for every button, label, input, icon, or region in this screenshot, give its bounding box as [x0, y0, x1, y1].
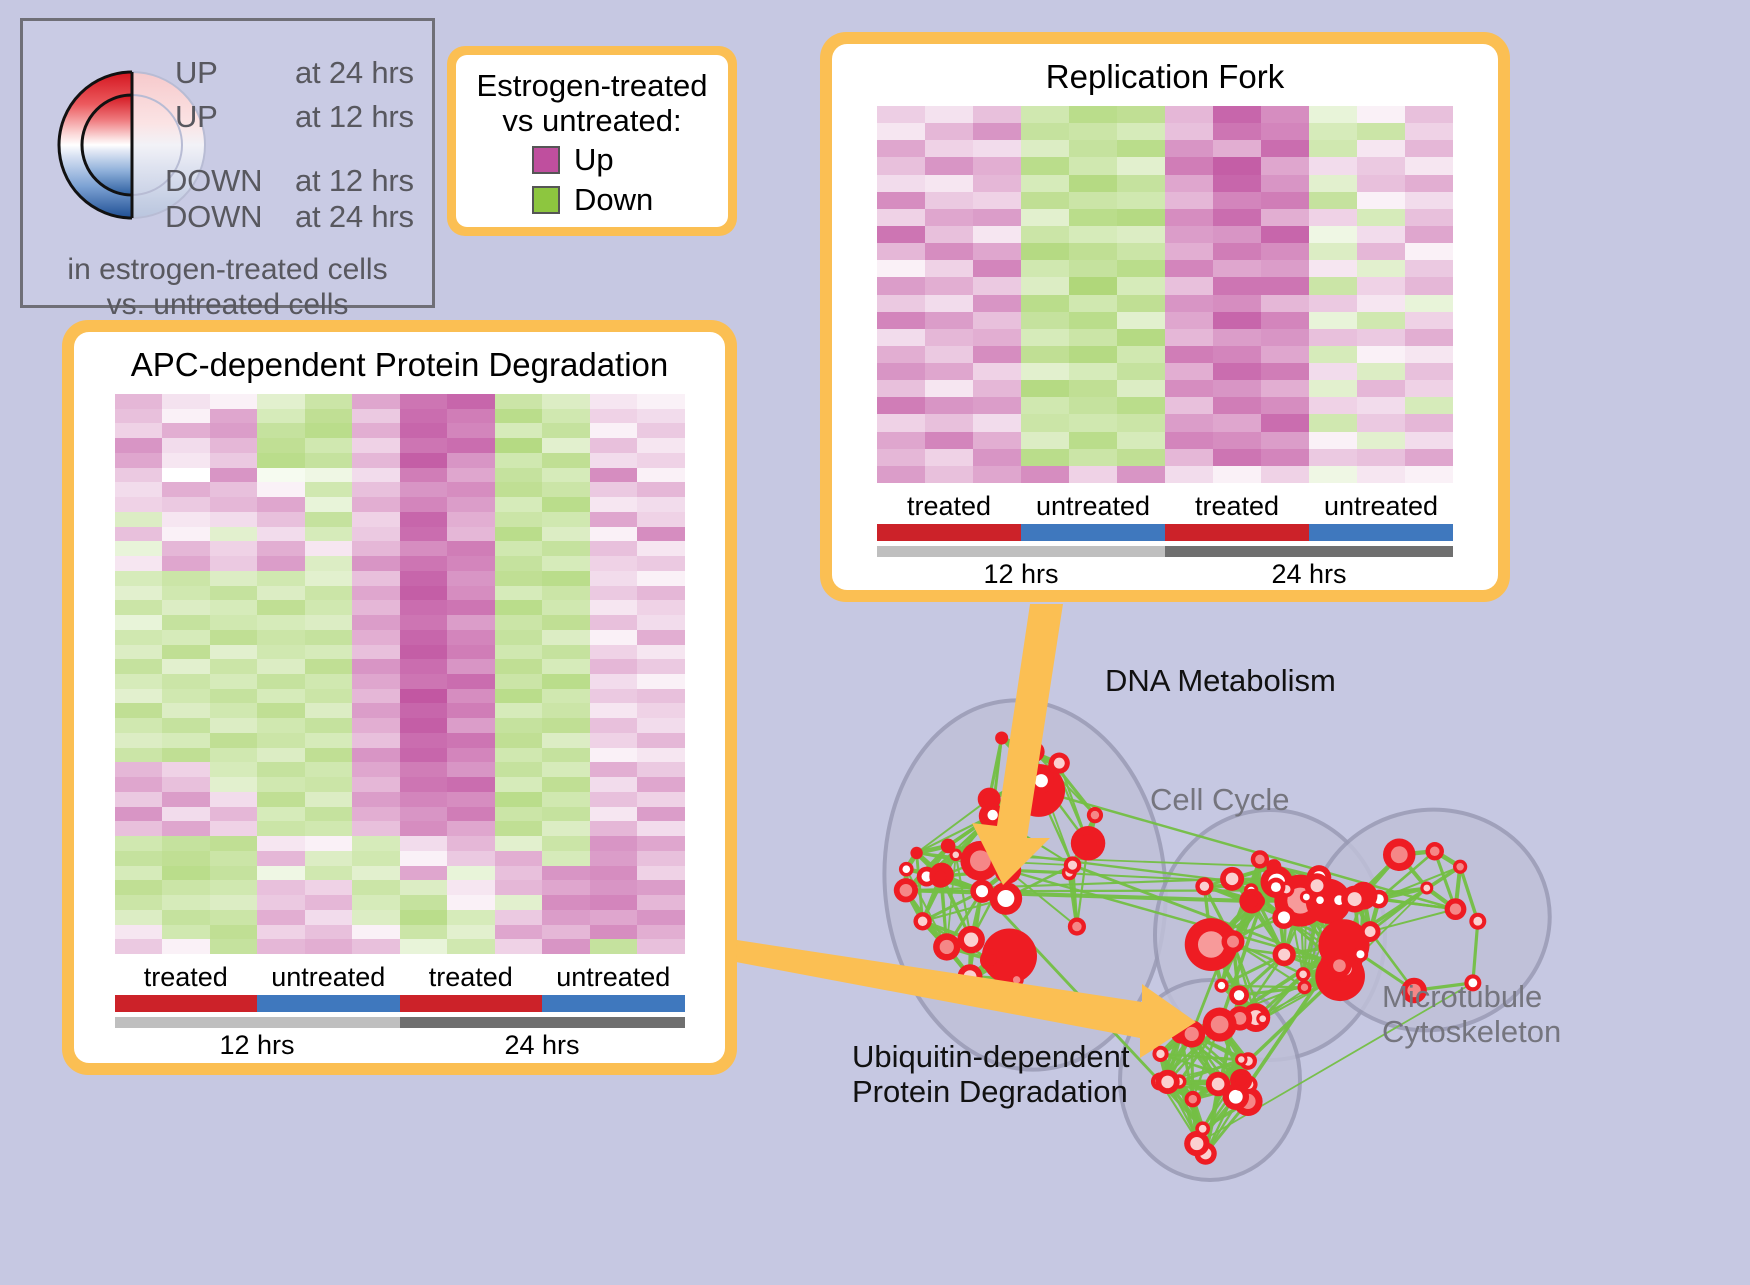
network-node-core [935, 871, 947, 883]
group-label-treated-2: treated [400, 962, 543, 993]
colorwheel-footer: in estrogen-treated cells vs. untreated … [23, 253, 432, 323]
group-bar-treated-2 [400, 995, 543, 1012]
time-bars-replication [877, 546, 1453, 557]
group-bar-treated-0 [877, 524, 1021, 541]
network-node-core [1001, 863, 1015, 877]
group-bars-replication [877, 524, 1453, 541]
network-node-core [1029, 746, 1040, 757]
network-node-core [1200, 882, 1209, 891]
time-label-12-hrs: 12 hrs [877, 559, 1165, 590]
network-node-core [1430, 846, 1440, 856]
colorwheel-footer-line1: in estrogen-treated cells [23, 253, 432, 288]
network-node-core [1226, 873, 1238, 885]
updown-legend-title: Estrogen-treated vs untreated: [466, 69, 718, 138]
down-color-swatch [532, 186, 560, 214]
network-node-core [1068, 861, 1077, 870]
group-label-untreated-3: untreated [542, 962, 685, 993]
group-label-untreated-1: untreated [257, 962, 400, 993]
network-node-core [900, 884, 913, 897]
network-node-core [1316, 896, 1324, 904]
group-label-treated-2: treated [1165, 491, 1309, 522]
network-node-core [918, 917, 928, 927]
time-label-24-hrs: 24 hrs [400, 1030, 685, 1061]
updown-title-line2: vs untreated: [466, 104, 718, 139]
network-node-core [970, 850, 991, 871]
panel-title-apc: APC-dependent Protein Degradation [131, 346, 669, 384]
network-node-core [1188, 1095, 1197, 1104]
network-node-core [953, 852, 960, 859]
network-node-core [1365, 926, 1376, 937]
network-node-core [1356, 950, 1364, 958]
time-labels-replication: 12 hrs24 hrs [877, 559, 1453, 590]
network-node-core [1423, 885, 1430, 892]
network-node-core [1054, 758, 1065, 769]
group-bar-untreated-1 [257, 995, 400, 1012]
network-node-core [944, 842, 952, 850]
network-node-core [1211, 1016, 1229, 1034]
network-node-core [1199, 1125, 1207, 1133]
network-node-core [1271, 882, 1281, 892]
legend-item-down: Down [532, 182, 718, 218]
network-node-core [1456, 863, 1463, 870]
network-node-core [1270, 863, 1278, 871]
network-node-core [963, 970, 976, 983]
colorwheel-footer-line2: vs. untreated cells [23, 288, 432, 323]
group-bars-apc [115, 995, 685, 1012]
group-bar-treated-0 [115, 995, 258, 1012]
time-bar-12-hrs [115, 1017, 400, 1028]
network-node-core [1391, 846, 1408, 863]
network-node-core [1161, 1076, 1174, 1089]
wheel-label-down-12: DOWN [165, 163, 262, 199]
network-node-core [1299, 971, 1307, 979]
network-node-core [1185, 1027, 1199, 1041]
group-label-treated-0: treated [115, 962, 258, 993]
ubiquitin-line1: Ubiquitin-dependent [852, 1040, 1130, 1075]
wheel-label-up-12: UP [175, 99, 218, 135]
network-node-core [1212, 1078, 1225, 1091]
network-node-core [1227, 936, 1239, 948]
network-node-core [1245, 895, 1258, 908]
panel-apc-degradation: APC-dependent Protein Degradation treate… [62, 320, 737, 1075]
network-node-core [1255, 855, 1265, 865]
panel-title-replication-fork: Replication Fork [1046, 58, 1284, 96]
cluster-label-cell-cycle: Cell Cycle [1150, 782, 1290, 818]
time-bar-12-hrs [877, 546, 1165, 557]
network-node-core [1348, 892, 1362, 906]
network-node-core [1013, 976, 1020, 983]
pathway-network-graph [790, 620, 1750, 1280]
network-node-core [1311, 879, 1324, 892]
group-bar-untreated-3 [542, 995, 685, 1012]
time-label-24-hrs: 24 hrs [1165, 559, 1453, 590]
heatmap-apc-degradation [115, 394, 685, 954]
network-node-core [1238, 1056, 1244, 1062]
group-bar-treated-2 [1165, 524, 1309, 541]
network-node-core [1259, 1015, 1266, 1022]
cluster-label-ubiquitin-degradation: Ubiquitin-dependent Protein Degradation [852, 1040, 1130, 1109]
updown-legend-card: Estrogen-treated vs untreated: Up Down [447, 46, 737, 236]
wheel-label-time-24-down: at 24 hrs [295, 199, 414, 235]
network-node-core [1198, 931, 1224, 957]
figure-canvas: UP at 24 hrs UP at 12 hrs DOWN at 12 hrs… [0, 0, 1750, 1279]
up-color-swatch [532, 146, 560, 174]
network-node-core [1303, 894, 1310, 901]
legend-label-up: Up [574, 142, 614, 178]
time-bars-apc [115, 1017, 685, 1028]
legend-label-down: Down [574, 182, 653, 218]
network-node-core [976, 885, 988, 897]
cluster-label-microtubule-cytoskeleton: Microtubule Cytoskeleton [1382, 980, 1561, 1049]
wheel-label-up-24: UP [175, 55, 218, 91]
time-bar-24-hrs [400, 1017, 685, 1028]
heatmap-replication-fork [877, 106, 1453, 483]
network-node-core [1091, 811, 1099, 819]
updown-title-line1: Estrogen-treated [466, 69, 718, 104]
network-node-core [1278, 949, 1290, 961]
network-node-core [902, 865, 910, 873]
network-node-core [997, 890, 1014, 907]
network-node-core [1218, 982, 1225, 989]
network-node-core [1035, 774, 1048, 787]
ubiquitin-line2: Protein Degradation [852, 1075, 1130, 1110]
group-labels-replication: treateduntreatedtreateduntreated [877, 491, 1453, 522]
panel-replication-fork: Replication Fork treateduntreatedtreated… [820, 32, 1510, 602]
network-node-core [1156, 1050, 1164, 1058]
network-node-core [1473, 917, 1482, 926]
time-bar-24-hrs [1165, 546, 1453, 557]
wheel-label-time-12-down: at 12 hrs [295, 163, 414, 199]
group-label-untreated-1: untreated [1021, 491, 1165, 522]
cluster-label-dna-metabolism: DNA Metabolism [1105, 663, 1336, 699]
network-node-core [1450, 903, 1461, 914]
network-node-core [985, 954, 997, 966]
group-label-untreated-3: untreated [1309, 491, 1453, 522]
network-node-core [1333, 959, 1346, 972]
group-bar-untreated-3 [1309, 524, 1453, 541]
network-node-core [1301, 984, 1308, 991]
network-node-core [1234, 990, 1244, 1000]
microtubule-line1: Microtubule [1382, 980, 1561, 1015]
network-node-core [940, 940, 954, 954]
time-labels-apc: 12 hrs24 hrs [115, 1030, 685, 1061]
network-node-core [987, 810, 997, 820]
microtubule-line2: Cytoskeleton [1382, 1015, 1561, 1050]
group-labels-apc: treateduntreatedtreateduntreated [115, 962, 685, 993]
network-node-core [1072, 922, 1081, 931]
network-node-core [998, 735, 1005, 742]
network-node-core [1278, 911, 1290, 923]
network-node-core [964, 932, 978, 946]
network-node-core [1079, 834, 1097, 852]
network-node-core [1190, 1137, 1203, 1150]
wheel-label-time-12-up: at 12 hrs [295, 99, 414, 135]
time-label-12-hrs: 12 hrs [115, 1030, 400, 1061]
wheel-label-down-24: DOWN [165, 199, 262, 235]
group-bar-untreated-1 [1021, 524, 1165, 541]
colorwheel-legend-box: UP at 24 hrs UP at 12 hrs DOWN at 12 hrs… [20, 18, 435, 308]
group-label-treated-0: treated [877, 491, 1021, 522]
network-node-core [913, 850, 919, 856]
network-node-core [1229, 1090, 1243, 1104]
legend-item-up: Up [532, 142, 718, 178]
wheel-label-time-24-up: at 24 hrs [295, 55, 414, 91]
network-node-core [1235, 1074, 1247, 1086]
